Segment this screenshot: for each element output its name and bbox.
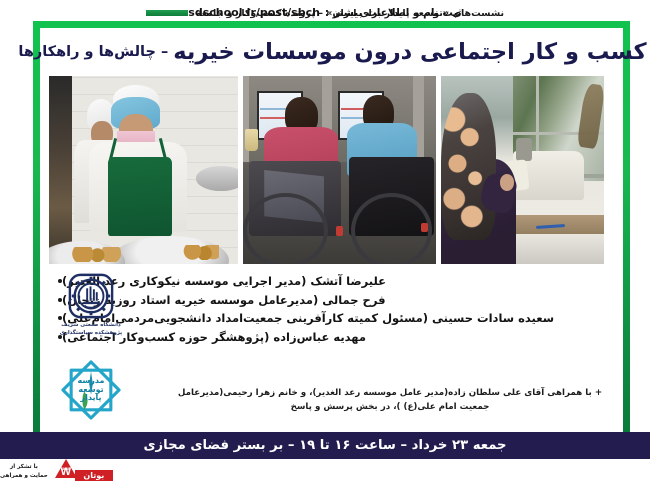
school-word-3: پایدار xyxy=(81,394,102,403)
monitor-left-content-line-2 xyxy=(260,117,285,119)
title-main: کسب و کار اجتماعی درون موسسات خیریه xyxy=(173,39,646,65)
butane-logo-icon: BUTANE W بوتان xyxy=(53,459,115,484)
registration-line: ثبت نام و اطلاعات بیشتر : sdschool.ir/po… xyxy=(0,0,650,25)
wheelchair-right-wheel-icon xyxy=(351,193,432,264)
title-subtitle: – چالش‌ها و راهکارها xyxy=(18,44,168,60)
wheelchair-left-brake xyxy=(336,226,344,235)
photo-strip xyxy=(48,76,604,264)
green-apron xyxy=(108,157,172,236)
sponsor-acknowledgement: BUTANE W بوتان با تشکر از حمایت و همراهی xyxy=(0,459,117,484)
paper-cup-icon xyxy=(245,129,259,152)
photo-wheelchair-computer-lab xyxy=(243,76,436,264)
registration-url-link[interactable]: sdschool.ir/post/sbch xyxy=(188,6,320,19)
sewing-machine-arm xyxy=(516,138,532,161)
sharif-emblem-icon xyxy=(67,272,115,320)
floral-headscarf xyxy=(441,93,496,240)
poster-root: نشست‌های «توسعه پایدار برای ایران» – پرو… xyxy=(0,0,650,484)
sharif-caption-line-2: پژوهشکده سیاستگذاری xyxy=(60,330,122,338)
metal-pot-right xyxy=(196,166,238,190)
logo-sharif-university: دانشگاه صنعتی شریف پژوهشکده سیاستگذاری xyxy=(42,272,140,350)
wheelchair-right-brake xyxy=(421,223,429,232)
photo-kitchen-workers xyxy=(49,76,238,264)
chopped-food-left xyxy=(72,247,121,262)
page-title: کسب و کار اجتماعی درون موسسات خیریه – چا… xyxy=(45,32,620,72)
logo-sustainable-development-school: مدرسه توسعه پایدار xyxy=(44,356,138,424)
school-logo-wordmark: مدرسه توسعه پایدار xyxy=(44,356,138,424)
registration-label: ثبت نام و اطلاعات بیشتر : xyxy=(325,7,462,19)
sharif-caption-line-1: دانشگاه صنعتی شریف xyxy=(60,322,122,330)
chopped-food-right xyxy=(181,245,219,260)
kitchen-shelf-left xyxy=(49,76,72,264)
sponsor-thanks-line-1: با تشکر از xyxy=(0,463,48,471)
event-datetime-bar: جمعه ۲۳ خرداد – ساعت ۱۶ تا ۱۹ – بر بستر … xyxy=(0,432,650,459)
sponsor-thanks-line-2: حمایت و همراهی xyxy=(0,472,48,480)
sponsor-thanks-text: با تشکر از حمایت و همراهی xyxy=(0,463,48,480)
event-datetime-text: جمعه ۲۳ خرداد – ساعت ۱۶ تا ۱۹ – بر بستر … xyxy=(143,438,506,453)
additional-guests-note: + با همراهی آقای علی سلطان زاده(مدیر عام… xyxy=(160,386,612,414)
seamstress-hand xyxy=(500,174,515,191)
butane-brand-mark: W xyxy=(59,466,73,478)
wheelchair-left-wheel-icon xyxy=(243,193,328,264)
photo-sewing-workshop xyxy=(441,76,604,264)
butane-brand-fa: بوتان xyxy=(75,470,113,481)
sharif-logo-caption: دانشگاه صنعتی شریف پژوهشکده سیاستگذاری xyxy=(60,322,122,338)
